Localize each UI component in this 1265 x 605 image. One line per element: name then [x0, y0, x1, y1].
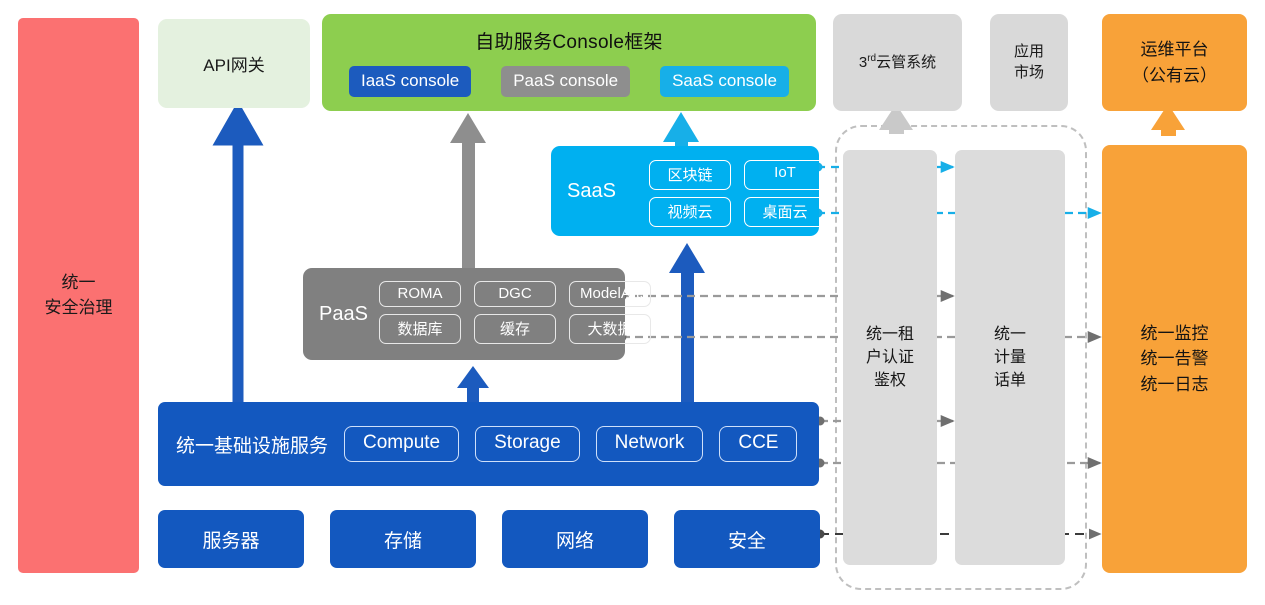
security-governance-line2: 安全治理	[45, 296, 113, 321]
infrastructure-layer: 统一基础设施服务 Compute Storage Network CCE	[158, 402, 819, 486]
unified-metering-column: 统一 计量 话单	[955, 150, 1065, 565]
ops-platform-header-box[interactable]: 运维平台 （公有云）	[1102, 14, 1247, 111]
unified-tenant-auth-column: 统一租 户认证 鉴权	[843, 150, 937, 565]
saas-tile-grid: 区块链 IoT 视频云 桌面云	[649, 160, 826, 227]
paas-layer: PaaS ROMA DGC ModelArts 数据库 缓存 大数据	[303, 268, 625, 360]
resource-label-storage: 存储	[384, 526, 422, 553]
resource-box-storage[interactable]: 存储	[330, 510, 476, 568]
auth-line1: 统一租	[866, 323, 914, 346]
chip-saas-console[interactable]: SaaS console	[660, 66, 789, 97]
infra-tile-cce[interactable]: CCE	[719, 426, 797, 462]
monitoring-line1: 统一监控	[1141, 321, 1209, 347]
third-party-cloud-label: 3rd云管系统	[859, 52, 936, 73]
infra-tile-network[interactable]: Network	[596, 426, 704, 462]
auth-line2: 户认证	[866, 346, 914, 369]
ops-platform-line1: 运维平台	[1141, 37, 1209, 63]
paas-tile-roma[interactable]: ROMA	[379, 281, 461, 307]
security-governance-line1: 统一	[62, 271, 96, 296]
architecture-diagram: 统一 安全治理 API网关 自助服务Console框架 IaaS console…	[0, 0, 1265, 605]
saas-tile-blockchain[interactable]: 区块链	[649, 160, 731, 190]
infra-tile-storage[interactable]: Storage	[475, 426, 580, 462]
paas-tile-database[interactable]: 数据库	[379, 314, 461, 344]
chip-paas-console[interactable]: PaaS console	[501, 66, 630, 97]
metering-line2: 计量	[994, 346, 1026, 369]
saas-tile-video-cloud[interactable]: 视频云	[649, 197, 731, 227]
paas-tile-grid: ROMA DGC ModelArts 数据库 缓存 大数据	[379, 281, 651, 344]
paas-tile-dgc[interactable]: DGC	[474, 281, 556, 307]
monitoring-line3: 统一日志	[1141, 372, 1209, 398]
app-market-box[interactable]: 应用 市场	[990, 14, 1068, 111]
resource-label-server: 服务器	[202, 526, 259, 553]
monitoring-line2: 统一告警	[1141, 346, 1209, 372]
arrow-infra-to-saas	[669, 243, 705, 408]
security-governance-panel: 统一 安全治理	[18, 18, 139, 573]
paas-layer-label: PaaS	[319, 303, 368, 326]
monitoring-panel: 统一监控 统一告警 统一日志	[1102, 145, 1247, 573]
paas-tile-cache[interactable]: 缓存	[474, 314, 556, 344]
metering-line1: 统一	[994, 323, 1026, 346]
auth-line3: 鉴权	[874, 369, 906, 392]
resource-label-network: 网络	[556, 526, 594, 553]
paas-tile-modelarts[interactable]: ModelArts	[569, 281, 651, 307]
metering-line3: 话单	[994, 369, 1026, 392]
resource-box-network[interactable]: 网络	[502, 510, 648, 568]
chip-iaas-console[interactable]: IaaS console	[349, 66, 471, 97]
infrastructure-label: 统一基础设施服务	[176, 431, 328, 458]
console-chip-row: IaaS console PaaS console SaaS console	[322, 66, 816, 97]
api-gateway-box[interactable]: API网关	[158, 19, 310, 108]
saas-layer: SaaS 区块链 IoT 视频云 桌面云	[551, 146, 819, 236]
resource-label-security: 安全	[728, 526, 766, 553]
arrow-paas-to-console	[450, 113, 486, 270]
console-framework-panel: 自助服务Console框架 IaaS console PaaS console …	[322, 14, 816, 111]
infra-tile-compute[interactable]: Compute	[344, 426, 459, 462]
app-market-line2: 市场	[1014, 63, 1044, 83]
app-market-line1: 应用	[1014, 42, 1044, 62]
console-framework-title: 自助服务Console框架	[475, 27, 663, 54]
third-party-cloud-box[interactable]: 3rd云管系统	[833, 14, 962, 111]
ops-platform-line2: （公有云）	[1132, 63, 1217, 89]
resource-box-server[interactable]: 服务器	[158, 510, 304, 568]
paas-tile-bigdata[interactable]: 大数据	[569, 314, 651, 344]
saas-tile-desktop-cloud[interactable]: 桌面云	[744, 197, 826, 227]
api-gateway-label: API网关	[203, 51, 264, 76]
saas-tile-iot[interactable]: IoT	[744, 160, 826, 190]
resource-box-security[interactable]: 安全	[674, 510, 820, 568]
saas-layer-label: SaaS	[567, 180, 616, 203]
arrow-infra-to-apigw	[221, 112, 255, 405]
